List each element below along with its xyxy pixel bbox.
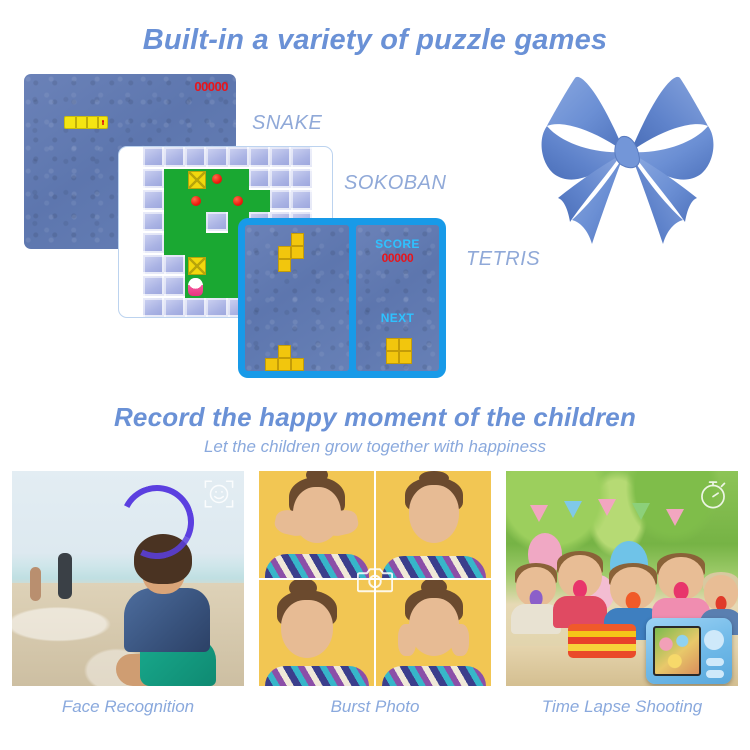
boy-shirt [124, 588, 210, 652]
tetris-block [278, 358, 291, 371]
caption-time-lapse: Time Lapse Shooting [506, 697, 738, 717]
camera-button [706, 670, 724, 678]
tetris-score-value: 00000 [356, 251, 439, 265]
camera-button [706, 658, 724, 666]
tetris-next-block [399, 351, 412, 364]
tetris-next-block [386, 338, 399, 351]
photo-card-time-lapse[interactable] [506, 471, 738, 686]
sokoban-player [185, 276, 206, 298]
sokoban-box [185, 169, 206, 191]
burst-frame [376, 471, 491, 578]
caption-face-recognition: Face Recognition [12, 697, 244, 717]
tetris-next-block [399, 338, 412, 351]
kid [516, 567, 556, 631]
tetris-playfield [245, 225, 349, 371]
photo-card-face-recognition[interactable] [12, 471, 244, 686]
smiley-face-detect-icon [202, 477, 236, 511]
tetris-block [291, 233, 304, 246]
tetris-block [278, 259, 291, 272]
snake-sprite [64, 116, 108, 129]
camera-icon [357, 564, 393, 594]
burst-frame [376, 580, 491, 687]
stopwatch-icon [696, 477, 730, 511]
background-person [58, 553, 72, 599]
kids-camera-device [646, 618, 732, 684]
birthday-cake [568, 624, 636, 658]
tetris-block [278, 246, 291, 259]
snake-eye-bottom [102, 123, 105, 126]
ribbon-bow-icon [520, 58, 735, 258]
sokoban-box [185, 255, 206, 277]
kid [558, 555, 602, 625]
tetris-info-panel: SCORE 00000 NEXT [356, 225, 439, 371]
caption-burst-photo: Burst Photo [259, 697, 491, 717]
kid [658, 557, 704, 627]
page-title-games: Built-in a variety of puzzle games [0, 24, 750, 57]
game-label-sokoban: SOKOBAN [344, 172, 446, 195]
tetris-next-label: NEXT [356, 311, 439, 325]
tetris-block [291, 358, 304, 371]
camera-preview-screen [653, 626, 701, 676]
photo-card-burst-photo[interactable] [259, 471, 491, 686]
sokoban-target [228, 190, 249, 212]
game-label-snake: SNAKE [252, 112, 322, 135]
tetris-next-block [386, 351, 399, 364]
tetris-block [278, 345, 291, 358]
page-subtitle-record: Let the children grow together with happ… [0, 437, 750, 457]
tetris-block [291, 246, 304, 259]
burst-frame [259, 471, 374, 578]
snake-score-value: 00000 [194, 79, 228, 94]
tetris-score-label: SCORE [356, 237, 439, 251]
product-feature-page: Built-in a variety of puzzle games 00000… [0, 0, 750, 750]
background-person [30, 567, 41, 601]
tetris-game-screen[interactable]: SCORE 00000 NEXT [238, 218, 446, 378]
page-title-record: Record the happy moment of the children [0, 402, 750, 433]
camera-dpad [704, 630, 724, 650]
tetris-block [265, 358, 278, 371]
burst-frame [259, 580, 374, 687]
sokoban-target [185, 190, 206, 212]
sokoban-target [206, 169, 227, 191]
